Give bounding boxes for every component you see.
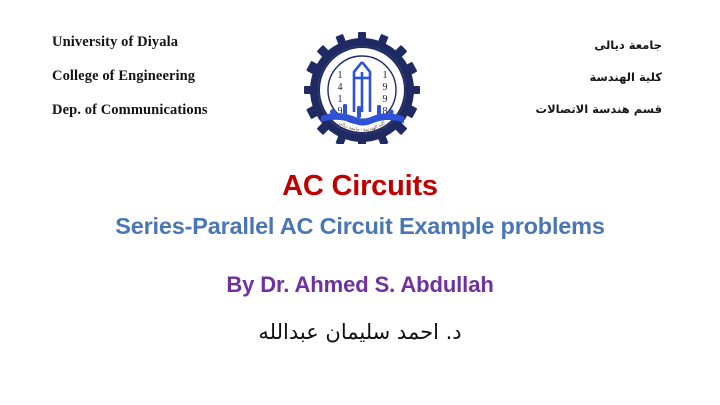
department-name-en: Dep. of Communications <box>52 102 292 119</box>
author-line-arabic: د. احمد سليمان عبدالله <box>0 297 720 345</box>
svg-text:1: 1 <box>338 70 343 81</box>
university-name-ar: جامعة ديالى <box>432 38 662 52</box>
svg-text:9: 9 <box>383 82 388 93</box>
svg-text:9: 9 <box>383 94 388 105</box>
svg-text:1: 1 <box>383 70 388 81</box>
institution-block-english: University of Diyala College of Engineer… <box>52 34 292 136</box>
presentation-title-slide: University of Diyala College of Engineer… <box>0 0 720 405</box>
page-title: AC Circuits <box>0 150 720 201</box>
author-line-english: By Dr. Ahmed S. Abdullah <box>0 240 720 297</box>
svg-text:1: 1 <box>338 94 343 105</box>
institution-block-arabic: جامعة ديالى كلية الهندسة قسم هندسة الاتص… <box>432 38 662 134</box>
university-name-en: University of Diyala <box>52 34 292 51</box>
slide-title-block: AC Circuits Series-Parallel AC Circuit E… <box>0 150 720 346</box>
page-subtitle: Series-Parallel AC Circuit Example probl… <box>0 201 720 240</box>
department-name-ar: قسم هندسة الاتصالات <box>432 102 662 116</box>
college-name-en: College of Engineering <box>52 68 292 85</box>
svg-text:4: 4 <box>338 82 343 93</box>
college-name-ar: كلية الهندسة <box>432 70 662 84</box>
college-of-engineering-emblem: COLLEGE OF ENGINEERING كلية الهندسة - جا… <box>297 32 427 144</box>
slide-header: University of Diyala College of Engineer… <box>0 0 720 148</box>
